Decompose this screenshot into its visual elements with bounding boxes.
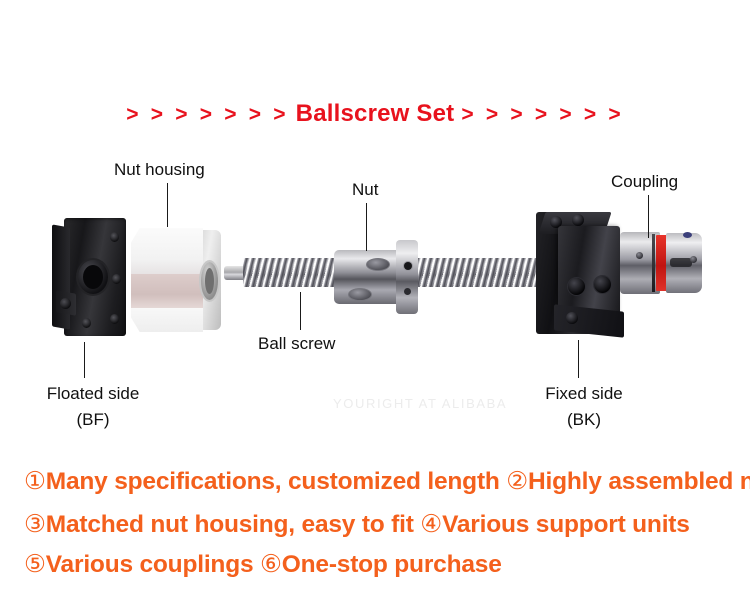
feature-text: Various support units [442, 511, 690, 538]
feature-line-2: ③Matched nut housing, easy to fit ④Vario… [24, 509, 690, 539]
bk-support-unit [536, 212, 632, 338]
label-nut: Nut [352, 180, 378, 200]
coupling-set-screw [636, 252, 643, 259]
screw-threaded-section-left [243, 258, 343, 287]
bk-side-hole [566, 312, 578, 324]
feature-number: ④ [420, 511, 442, 538]
leader-nut [366, 203, 367, 251]
feature-text: Matched nut housing, easy to fit [46, 511, 414, 538]
floated-side-text: Floated side [47, 384, 140, 403]
ball-return-port [366, 258, 390, 271]
feature-line-1: ①Many specifications, customized length … [24, 466, 750, 496]
label-floated-side: Floated side (BF) [30, 381, 156, 434]
bf-bolt-hole [112, 274, 121, 284]
feature-text: One-stop purchase [282, 551, 502, 578]
coupling-marking [683, 232, 692, 238]
feature-line-3: ⑤Various couplings ⑥One-stop purchase [24, 549, 502, 579]
product-diagram: > > > > > > >Ballscrew Set> > > > > > > [0, 0, 750, 600]
bf-bolt-hole [110, 232, 119, 242]
watermark: YOURIGHT AT ALIBABA [333, 396, 507, 411]
floated-side-sub: (BF) [76, 410, 109, 429]
feature-number: ⑤ [24, 551, 46, 578]
label-coupling: Coupling [611, 172, 678, 192]
bk-top-bolt-hole [572, 214, 584, 226]
leader-nut-housing [167, 183, 168, 227]
bk-counterbore [594, 276, 611, 293]
label-ball-screw: Ball screw [258, 334, 335, 354]
feature-number: ② [506, 468, 528, 495]
feature-number: ③ [24, 511, 46, 538]
bf-bolt-hole [110, 314, 119, 324]
leader-coupling [648, 195, 649, 238]
ball-nut-part [334, 240, 432, 314]
bf-support-unit [52, 218, 126, 336]
leader-ball-screw [300, 292, 301, 330]
feature-number: ⑥ [260, 551, 282, 578]
coupling-keyway-slot [670, 258, 692, 267]
feature-number: ① [24, 468, 46, 495]
leader-floated-side [84, 342, 85, 378]
nut-housing-color-band [131, 274, 203, 308]
nut-housing-part [131, 228, 221, 332]
ball-return-port [348, 288, 372, 301]
label-nut-housing: Nut housing [114, 160, 205, 180]
nut-housing-bore-inner [205, 268, 214, 294]
fixed-side-text: Fixed side [545, 384, 622, 403]
bf-set-screw-hole [60, 298, 71, 309]
screw-threaded-section-right [414, 258, 546, 287]
bk-counterbore [568, 278, 585, 295]
coupling-set-screw [690, 256, 697, 263]
fixed-side-sub: (BK) [567, 410, 601, 429]
ball-nut-flange [396, 240, 418, 314]
feature-text: Many specifications, customized length [46, 468, 500, 495]
leader-fixed-side [578, 340, 579, 378]
feature-text: Various couplings [46, 551, 254, 578]
coupling-part [620, 232, 702, 294]
flange-bolt-hole [404, 262, 412, 270]
coupling-hub-gap [652, 234, 655, 292]
flange-bolt-hole [404, 288, 411, 295]
feature-text: Highly assembled nut [528, 468, 750, 495]
label-fixed-side: Fixed side (BK) [521, 381, 647, 434]
bf-bore-inner [83, 265, 103, 289]
bf-bolt-hole [82, 318, 91, 328]
